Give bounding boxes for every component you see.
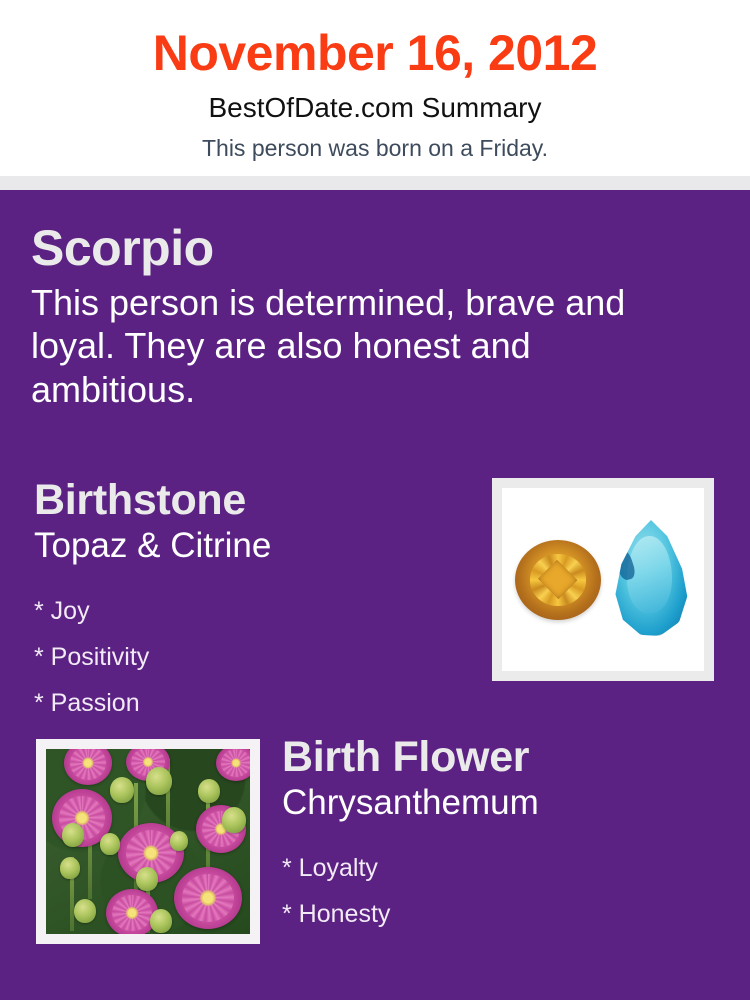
page-header: November 16, 2012 BestOfDate.com Summary… (0, 0, 750, 176)
citrine-gem-icon (515, 540, 601, 620)
page-title: November 16, 2012 (0, 0, 750, 78)
list-item: * Loyalty (282, 835, 722, 881)
list-item: * Positivity (34, 624, 464, 670)
born-day-text: This person was born on a Friday. (0, 122, 750, 160)
birthstone-name: Topaz & Citrine (34, 523, 464, 566)
flower-bud (62, 823, 84, 847)
header-divider (0, 176, 750, 190)
flower-bud (136, 867, 158, 891)
birth-flower-section: Birth Flower Chrysanthemum * Loyalty * H… (282, 735, 722, 927)
birth-flower-trait-list: * Loyalty * Honesty (282, 823, 722, 927)
list-item: * Passion (34, 670, 464, 716)
chrysanthemum-bloom (174, 867, 242, 929)
topaz-gem-icon (614, 520, 688, 636)
birth-flower-image (46, 749, 250, 934)
birthstone-image-frame (492, 478, 714, 681)
birthstone-section: Birthstone Topaz & Citrine * Joy * Posit… (34, 478, 464, 716)
flower-bud (74, 899, 96, 923)
birth-flower-name: Chrysanthemum (282, 780, 722, 823)
birthstone-trait-list: * Joy * Positivity * Passion (34, 566, 464, 716)
flower-bud (100, 833, 120, 855)
birthstone-heading: Birthstone (34, 478, 464, 523)
chrysanthemum-bloom (64, 749, 112, 785)
zodiac-sign-name: Scorpio (31, 222, 711, 275)
site-summary-subtitle: BestOfDate.com Summary (0, 78, 750, 122)
zodiac-section: Scorpio This person is determined, brave… (31, 222, 711, 412)
zodiac-description: This person is determined, brave and loy… (31, 275, 691, 413)
flower-bud (198, 779, 220, 803)
flower-bud (222, 807, 246, 833)
flower-bud (150, 909, 172, 933)
list-item: * Joy (34, 578, 464, 624)
list-item: * Honesty (282, 881, 722, 927)
chrysanthemum-bloom (106, 889, 158, 934)
birth-flower-heading: Birth Flower (282, 735, 722, 780)
flower-bud (170, 831, 188, 851)
flower-bud (110, 777, 134, 803)
birth-flower-image-frame (36, 739, 260, 944)
flower-bud (146, 767, 172, 795)
birthstone-image (502, 488, 704, 671)
flower-bud (60, 857, 80, 879)
summary-body: Scorpio This person is determined, brave… (0, 190, 750, 1000)
chrysanthemum-bloom (216, 749, 250, 781)
summary-page: November 16, 2012 BestOfDate.com Summary… (0, 0, 750, 1000)
